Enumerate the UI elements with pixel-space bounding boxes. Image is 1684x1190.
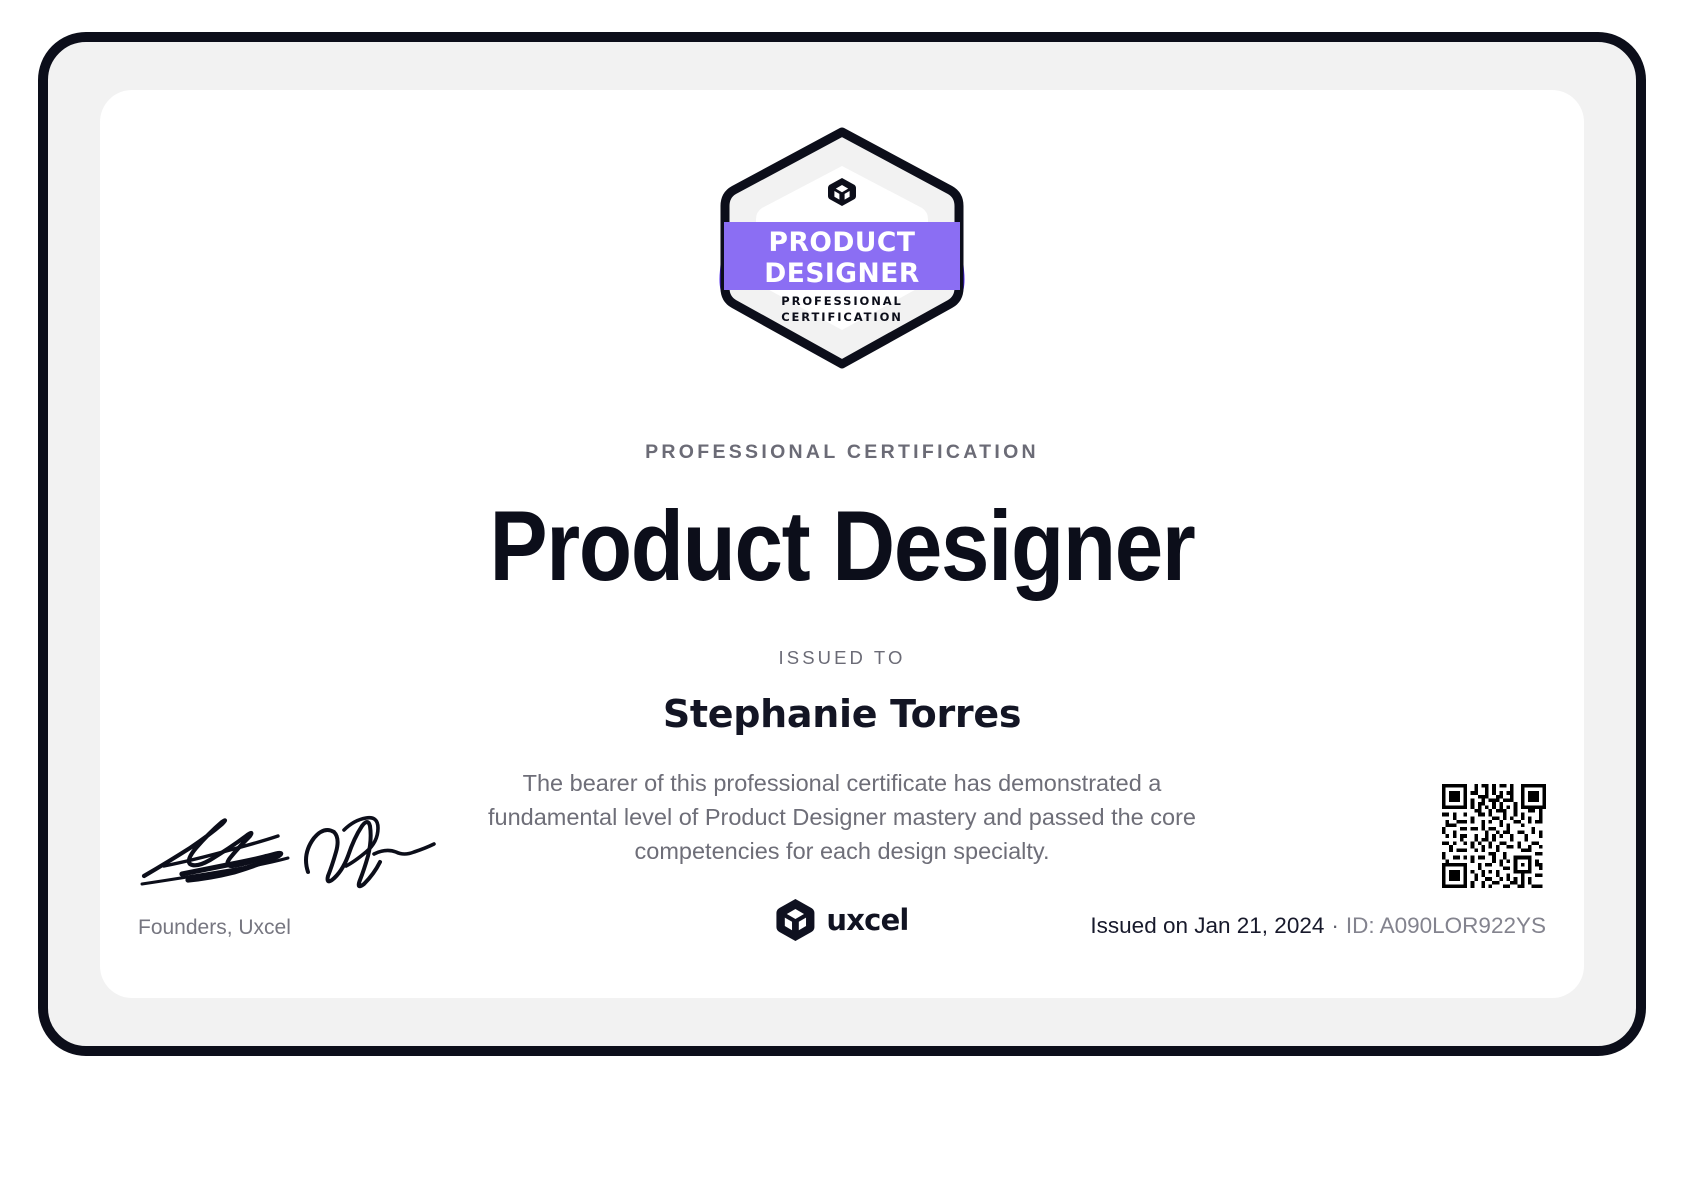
- signature-graphic: [138, 804, 438, 894]
- separator-dot: ·: [1331, 913, 1339, 938]
- badge-ribbon-line2: DESIGNER: [764, 258, 919, 289]
- certification-badge: PRODUCT DESIGNER PROFESSIONAL CERTIFICAT…: [704, 122, 980, 374]
- signature-caption: Founders, Uxcel: [138, 916, 291, 940]
- badge-subtitle-line1: PROFESSIONAL: [781, 294, 903, 308]
- badge-subtitle-line2: CERTIFICATION: [781, 310, 903, 324]
- certificate-eyebrow: PROFESSIONAL CERTIFICATION: [100, 441, 1584, 464]
- issued-on-date: Issued on Jan 21, 2024: [1090, 913, 1324, 938]
- uxcel-cube-icon: [775, 898, 815, 942]
- badge-ribbon-line1: PRODUCT: [769, 227, 916, 258]
- certificate-title: Product Designer: [189, 494, 1495, 598]
- certificate-id: ID: A090LOR922YS: [1346, 913, 1546, 938]
- issue-info: Issued on Jan 21, 2024·ID: A090LOR922YS: [1090, 913, 1546, 939]
- brand-logo: uxcel: [775, 898, 908, 942]
- certificate-frame: PRODUCT DESIGNER PROFESSIONAL CERTIFICAT…: [38, 32, 1646, 1056]
- certificate-card: PRODUCT DESIGNER PROFESSIONAL CERTIFICAT…: [100, 90, 1584, 998]
- brand-name: uxcel: [826, 903, 908, 937]
- recipient-name: Stephanie Torres: [100, 692, 1584, 736]
- certificate-description: The bearer of this professional certific…: [457, 766, 1227, 868]
- badge-graphic: PRODUCT DESIGNER PROFESSIONAL CERTIFICAT…: [704, 122, 980, 374]
- badge-container: PRODUCT DESIGNER PROFESSIONAL CERTIFICAT…: [100, 122, 1584, 374]
- qr-code[interactable]: [1442, 784, 1546, 888]
- issued-to-label: ISSUED TO: [100, 647, 1584, 669]
- signature-block: [138, 804, 438, 894]
- qr-code-icon[interactable]: [1442, 784, 1546, 888]
